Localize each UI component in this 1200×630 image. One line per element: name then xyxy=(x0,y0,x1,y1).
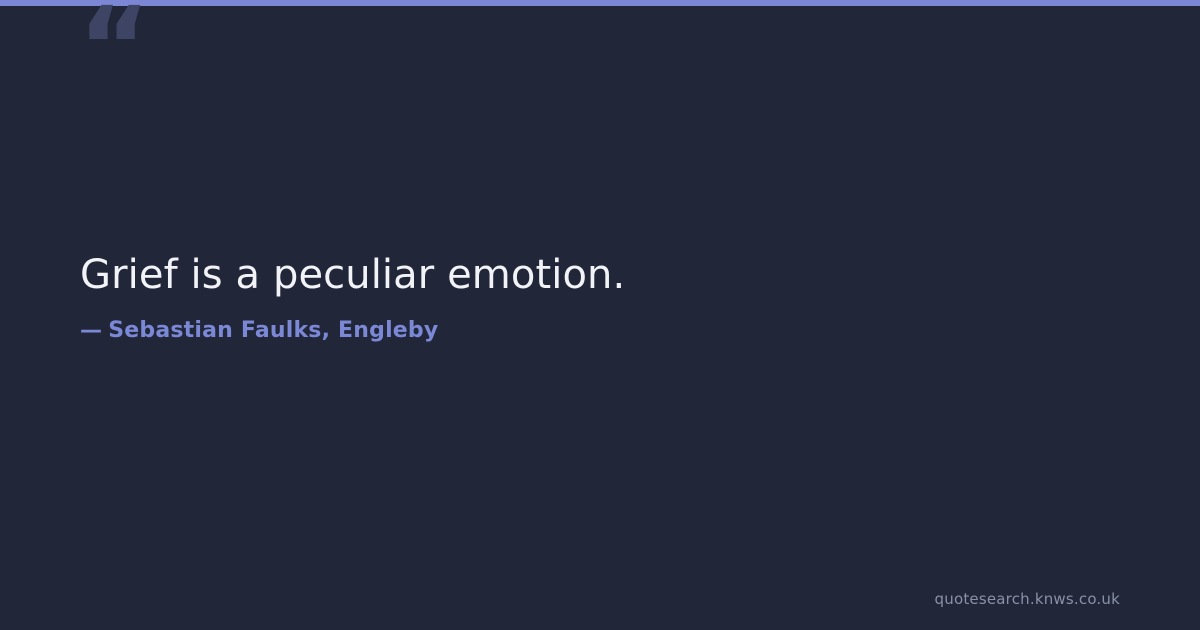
open-quote-icon: “ xyxy=(78,0,150,102)
source-url: quotesearch.knws.co.uk xyxy=(935,590,1120,608)
top-accent-bar xyxy=(0,0,1200,6)
attribution: —Sebastian Faulks, Engleby xyxy=(80,317,1120,346)
attribution-dash: — xyxy=(80,318,102,343)
attribution-author: Sebastian Faulks xyxy=(108,318,321,343)
quote-card: “ Grief is a peculiar emotion. —Sebastia… xyxy=(0,0,1200,630)
attribution-separator: , xyxy=(322,318,338,343)
attribution-work: Engleby xyxy=(338,318,438,343)
quote-text: Grief is a peculiar emotion. xyxy=(80,250,1120,301)
quote-block: Grief is a peculiar emotion. —Sebastian … xyxy=(80,250,1120,346)
